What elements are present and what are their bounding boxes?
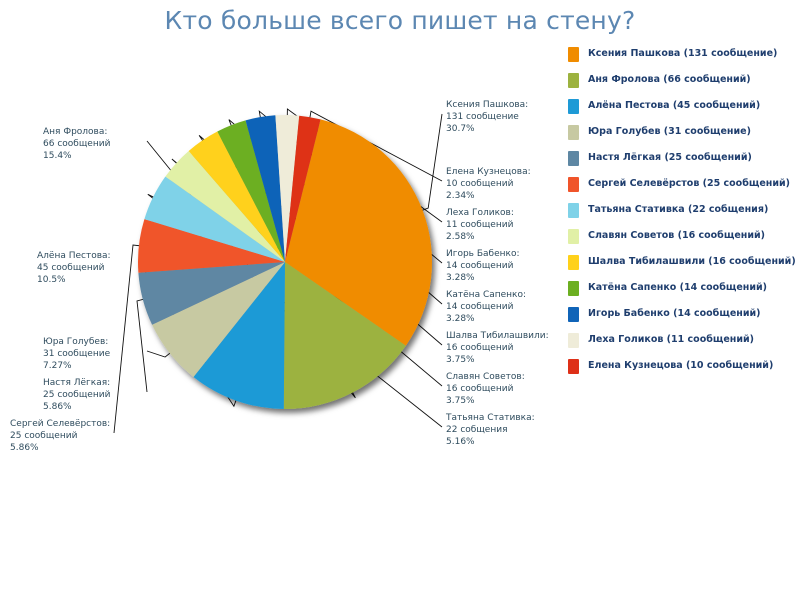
pie-callout-label: Юра Голубев:31 сообщение7.27% (43, 336, 110, 373)
legend-item-label: Сергей Селевёрстов (25 сообщений) (588, 176, 790, 191)
callout-l2: 14 сообщений (446, 301, 526, 313)
legend-item-label: Алёна Пестова (45 сообщений) (588, 98, 760, 113)
pie-callout-label: Игорь Бабенко:14 сообщений3.28% (446, 248, 519, 285)
callout-l1: Леха Голиков: (446, 207, 514, 219)
pie-chart-area: Ксения Пашкова:131 сообщение30.7%Елена К… (0, 0, 570, 600)
callout-l2: 10 сообщений (446, 178, 531, 190)
pie-callout-label: Шалва Тибилашвили:16 сообщений3.75% (446, 330, 549, 367)
pie-callout-label: Катёна Сапенко:14 сообщений3.28% (446, 289, 526, 326)
callout-l2: 14 сообщений (446, 260, 519, 272)
callout-l2: 25 сообщений (10, 430, 110, 442)
pie-callout-label: Елена Кузнецова:10 сообщений2.34% (446, 166, 531, 203)
legend-item[interactable]: Аня Фролова (66 сообщений) (568, 72, 800, 98)
legend-color-swatch (568, 255, 579, 270)
legend-item[interactable]: Шалва Тибилашвили (16 сообщений) (568, 254, 800, 280)
callout-l1: Юра Голубев: (43, 336, 110, 348)
legend-color-swatch (568, 177, 579, 192)
callout-l2: 45 сообщений (37, 262, 111, 274)
legend-item-label: Катёна Сапенко (14 сообщений) (588, 280, 767, 295)
legend-item-label: Аня Фролова (66 сообщений) (588, 72, 751, 87)
chart-root: Кто больше всего пишет на стену? Ксения … (0, 0, 800, 600)
legend-item-label: Татьяна Стативка (22 собщения) (588, 202, 768, 217)
pie-slices (138, 115, 432, 409)
legend-item[interactable]: Леха Голиков (11 сообщений) (568, 332, 800, 358)
legend-color-swatch (568, 359, 579, 374)
legend-item-label: Шалва Тибилашвили (16 сообщений) (588, 254, 796, 269)
legend-color-swatch (568, 307, 579, 322)
legend-item-label: Настя Лёгкая (25 сообщений) (588, 150, 752, 165)
callout-l1: Настя Лёгкая: (43, 377, 110, 389)
callout-l3: 3.75% (446, 354, 549, 366)
legend-item[interactable]: Сергей Селевёрстов (25 сообщений) (568, 176, 800, 202)
pie-callout-label: Настя Лёгкая:25 сообщений5.86% (43, 377, 110, 414)
legend-color-swatch (568, 99, 579, 114)
legend-color-swatch (568, 281, 579, 296)
legend-item[interactable]: Елена Кузнецова (10 сообщений) (568, 358, 800, 384)
legend-item-label: Ксения Пашкова (131 сообщение) (588, 46, 777, 61)
callout-l3: 3.28% (446, 313, 526, 325)
callout-l1: Славян Советов: (446, 371, 525, 383)
callout-l2: 31 сообщение (43, 348, 110, 360)
callout-l1: Игорь Бабенко: (446, 248, 519, 260)
legend-color-swatch (568, 151, 579, 166)
legend-color-swatch (568, 73, 579, 88)
callout-l2: 66 сообщений (43, 138, 110, 150)
callout-l3: 10.5% (37, 274, 111, 286)
callout-l1: Татьяна Стативка: (446, 412, 535, 424)
legend-item-label: Юра Голубев (31 сообщение) (588, 124, 751, 139)
legend-item-label: Леха Голиков (11 сообщений) (588, 332, 754, 347)
legend-item[interactable]: Игорь Бабенко (14 сообщений) (568, 306, 800, 332)
callout-l3: 2.58% (446, 231, 514, 243)
callout-l1: Аня Фролова: (43, 126, 110, 138)
pie-callout-label: Ксения Пашкова:131 сообщение30.7% (446, 99, 528, 136)
callout-l2: 11 сообщений (446, 219, 514, 231)
legend-item[interactable]: Настя Лёгкая (25 сообщений) (568, 150, 800, 176)
legend-item-label: Славян Советов (16 сообщений) (588, 228, 765, 243)
legend-item[interactable]: Славян Советов (16 сообщений) (568, 228, 800, 254)
callout-l2: 131 сообщение (446, 111, 528, 123)
callout-l2: 22 собщения (446, 424, 535, 436)
legend-item[interactable]: Татьяна Стативка (22 собщения) (568, 202, 800, 228)
pie-callout-label: Сергей Селевёрстов:25 сообщений5.86% (10, 418, 110, 455)
callout-l3: 2.34% (446, 190, 531, 202)
callout-l1: Ксения Пашкова: (446, 99, 528, 111)
pie-callout-label: Татьяна Стативка:22 собщения5.16% (446, 412, 535, 449)
legend-color-swatch (568, 203, 579, 218)
legend-color-swatch (568, 125, 579, 140)
callout-l2: 16 сообщений (446, 342, 549, 354)
legend-item[interactable]: Алёна Пестова (45 сообщений) (568, 98, 800, 124)
callout-l1: Катёна Сапенко: (446, 289, 526, 301)
legend-item-label: Елена Кузнецова (10 сообщений) (588, 358, 773, 373)
callout-l2: 16 сообщений (446, 383, 525, 395)
legend-item[interactable]: Юра Голубев (31 сообщение) (568, 124, 800, 150)
legend-item-label: Игорь Бабенко (14 сообщений) (588, 306, 760, 321)
legend-color-swatch (568, 333, 579, 348)
legend-color-swatch (568, 229, 579, 244)
pie-callout-label: Леха Голиков:11 сообщений2.58% (446, 207, 514, 244)
pie-callout-label: Аня Фролова:66 сообщений15.4% (43, 126, 110, 163)
callout-l3: 15.4% (43, 150, 110, 162)
legend-color-swatch (568, 47, 579, 62)
callout-l1: Алёна Пестова: (37, 250, 111, 262)
callout-l3: 7.27% (43, 360, 110, 372)
legend-item[interactable]: Ксения Пашкова (131 сообщение) (568, 46, 800, 72)
callout-l3: 3.75% (446, 395, 525, 407)
callout-l3: 5.16% (446, 436, 535, 448)
legend: Ксения Пашкова (131 сообщение)Аня Фролов… (568, 46, 800, 384)
callout-l3: 30.7% (446, 123, 528, 135)
callout-l1: Шалва Тибилашвили: (446, 330, 549, 342)
callout-l2: 25 сообщений (43, 389, 110, 401)
pie-callout-label: Славян Советов:16 сообщений3.75% (446, 371, 525, 408)
callout-l3: 3.28% (446, 272, 519, 284)
callout-l1: Сергей Селевёрстов: (10, 418, 110, 430)
legend-item[interactable]: Катёна Сапенко (14 сообщений) (568, 280, 800, 306)
callout-l3: 5.86% (10, 442, 110, 454)
callout-l1: Елена Кузнецова: (446, 166, 531, 178)
callout-l3: 5.86% (43, 401, 110, 413)
pie-callout-label: Алёна Пестова:45 сообщений10.5% (37, 250, 111, 287)
